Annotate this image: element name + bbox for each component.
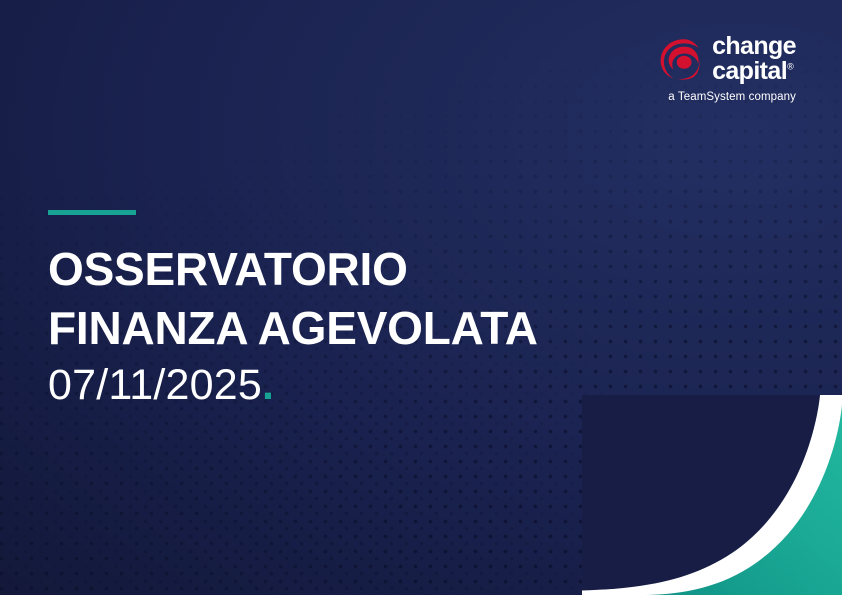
logo-wordmark: change capital® (712, 34, 796, 83)
logo-tagline: a TeamSystem company (668, 91, 796, 103)
date-text: 07/11/2025 (48, 361, 262, 409)
logo-word-change: change (712, 34, 796, 59)
accent-bar (48, 210, 136, 215)
change-capital-swirl-icon (657, 36, 703, 82)
title-slide: change capital® a TeamSystem company OSS… (0, 0, 842, 595)
registered-trademark-icon: ® (787, 61, 794, 71)
logo-row: change capital® (657, 34, 796, 83)
page-title-line-1: OSSERVATORIO (48, 240, 748, 299)
page-title: OSSERVATORIO FINANZA AGEVOLATA (48, 240, 748, 358)
date-accent-dot: . (262, 361, 274, 409)
page-subtitle-date: 07/11/2025. (48, 361, 748, 410)
title-block: OSSERVATORIO FINANZA AGEVOLATA 07/11/202… (48, 210, 748, 410)
page-title-line-2: FINANZA AGEVOLATA (48, 299, 748, 358)
teal-corner-accent (582, 395, 842, 595)
logo-word-capital-text: capital (712, 57, 787, 85)
logo-word-capital: capital® (712, 59, 796, 84)
brand-logo: change capital® a TeamSystem company (657, 34, 796, 103)
